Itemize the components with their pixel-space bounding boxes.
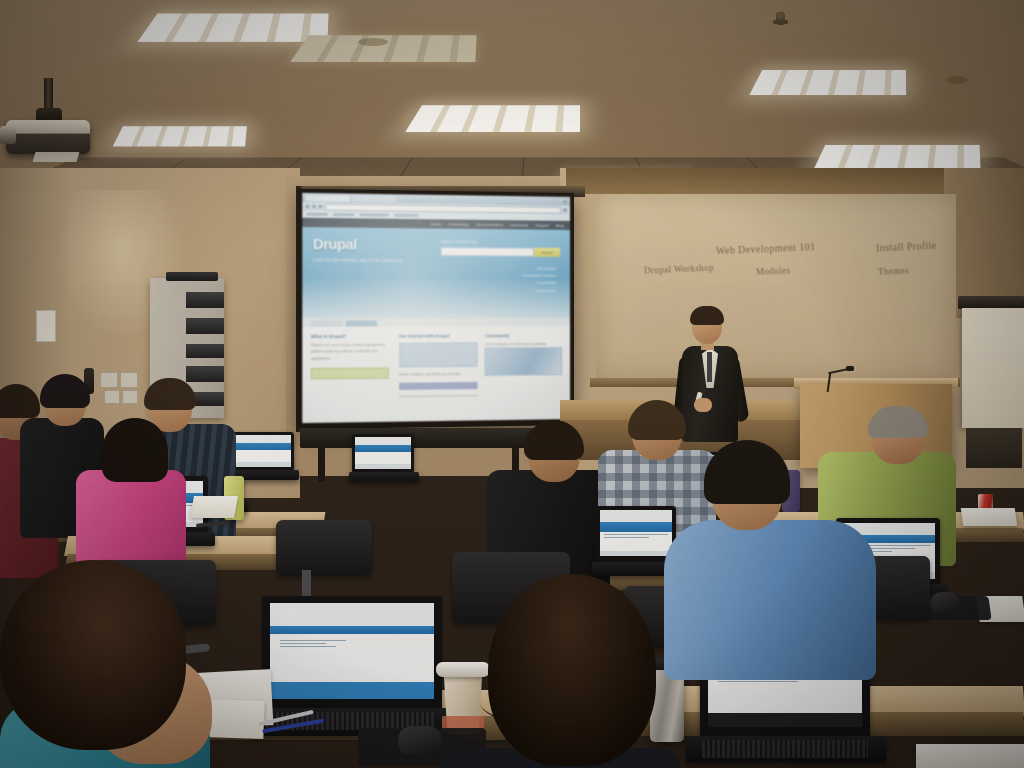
ceiling-projector xyxy=(6,120,90,154)
divider xyxy=(399,396,478,398)
column-heading: Get Started with Drupal xyxy=(399,333,478,338)
av-wall-plate xyxy=(104,390,120,404)
promo-image xyxy=(485,348,562,377)
wall-notice-sign xyxy=(36,310,56,342)
paper-handout[interactable] xyxy=(203,699,264,739)
projection-screen: Home Community Documentation Download Su… xyxy=(298,189,574,430)
column-heading: What is Drupal? xyxy=(311,334,392,339)
computer-mouse[interactable] xyxy=(398,726,442,754)
hero-link-list: Get Started Download & Extend Community … xyxy=(523,266,556,295)
av-rack-bay xyxy=(186,292,224,308)
bookmark-item[interactable] xyxy=(307,213,328,216)
content-column-what-is-drupal: What is Drupal? Drupal is an open source… xyxy=(311,334,392,423)
paper-handout[interactable] xyxy=(916,744,1024,768)
attendee-torso xyxy=(664,520,876,680)
fluorescent-light-panel xyxy=(113,126,247,146)
site-tagline: Come for the software, stay for the comm… xyxy=(313,257,439,265)
browser-tab[interactable] xyxy=(352,195,396,202)
laptop-screen xyxy=(235,435,291,467)
site-hero: Drupal Come for the software, stay for t… xyxy=(302,227,570,318)
laptop-screen xyxy=(270,603,434,699)
av-wall-plate xyxy=(100,372,118,388)
promo-band xyxy=(399,382,478,390)
search-label: Search Drupal.org xyxy=(441,239,560,245)
instructor-hands xyxy=(694,398,712,412)
fluorescent-light-panel xyxy=(405,105,580,132)
av-rack-bay xyxy=(186,344,224,358)
attendee-hair xyxy=(102,418,168,482)
smoke-detector-icon xyxy=(358,38,388,46)
projector-ceiling-plate xyxy=(33,152,80,162)
classroom-photo: Web Development 101 Drupal Workshop Modu… xyxy=(0,0,1024,768)
nav-item-documentation[interactable]: Documentation xyxy=(476,222,503,226)
nav-item-download[interactable]: Download xyxy=(510,223,528,227)
forward-arrow-icon[interactable] xyxy=(312,204,316,208)
fire-sprinkler-icon xyxy=(776,12,785,25)
av-rack-top-unit xyxy=(166,272,218,281)
browser-tab[interactable] xyxy=(305,194,350,201)
av-wall-plate xyxy=(122,390,138,404)
computer-mouse[interactable] xyxy=(930,592,960,612)
coffee-cup-lid xyxy=(436,662,490,677)
attendee-hair xyxy=(0,560,186,750)
microphone-icon xyxy=(846,366,854,371)
site-content: What is Drupal? Drupal is an open source… xyxy=(302,326,570,423)
search-input[interactable] xyxy=(441,247,534,257)
eyeglasses-icon xyxy=(56,394,84,403)
column-body: Install, configure and build your first … xyxy=(399,371,478,378)
tab-get-started[interactable] xyxy=(346,320,378,326)
nav-item-community[interactable]: Community xyxy=(448,222,468,226)
attendee-hair xyxy=(488,574,656,766)
instructor-hair xyxy=(690,306,724,325)
hero-link[interactable]: Community xyxy=(523,280,556,287)
smoke-detector-icon xyxy=(946,76,968,84)
paper-handout[interactable] xyxy=(190,496,238,518)
hero-link[interactable]: Marketplace xyxy=(523,287,556,294)
column-body: Drupal is an open source content managem… xyxy=(311,342,392,362)
flip-chart-stand xyxy=(966,428,1022,468)
av-credenza xyxy=(300,428,540,448)
office-chair[interactable] xyxy=(276,520,372,576)
laptop-screen xyxy=(355,437,411,469)
whiteboard-note: Themes xyxy=(878,265,909,276)
star-icon[interactable] xyxy=(563,208,567,212)
nav-item-support[interactable]: Support xyxy=(535,223,549,227)
tab-overview[interactable] xyxy=(311,320,343,326)
reload-icon[interactable] xyxy=(318,204,322,208)
paper-handout[interactable] xyxy=(961,508,1018,526)
av-rack-bay xyxy=(186,318,224,334)
projected-browser-window: Home Community Documentation Download Su… xyxy=(302,193,570,423)
site-search: Search Drupal.org Search xyxy=(441,239,560,257)
nav-item-blog[interactable]: Blog xyxy=(556,223,564,227)
bookmark-item[interactable] xyxy=(359,213,388,216)
browser-close-icon[interactable] xyxy=(563,199,567,203)
fluorescent-light-panel xyxy=(138,14,329,42)
content-column-community: Community Join thousands of contributors… xyxy=(485,333,562,423)
av-wall-plate xyxy=(120,372,138,388)
instructor-tie xyxy=(707,352,712,382)
content-column-get-started: Get Started with Drupal Install, configu… xyxy=(399,333,478,423)
laptop-screen xyxy=(600,510,672,556)
credenza-leg xyxy=(318,448,325,482)
search-button[interactable]: Search xyxy=(534,248,560,257)
whiteboard-note: Modules xyxy=(756,265,791,276)
av-rack-bay xyxy=(186,366,224,382)
whiteboard xyxy=(596,194,956,380)
fluorescent-light-panel xyxy=(749,70,906,95)
bookmark-item[interactable] xyxy=(394,214,419,217)
hero-link[interactable]: Download & Extend xyxy=(523,273,556,280)
promo-box xyxy=(399,342,478,367)
column-heading: Community xyxy=(485,333,562,338)
laptop-base xyxy=(349,472,419,482)
projector-lens-icon xyxy=(0,126,16,144)
download-drupal-button[interactable] xyxy=(311,368,389,380)
back-arrow-icon[interactable] xyxy=(305,204,309,208)
laptop-keyboard[interactable] xyxy=(702,740,868,758)
projector-mount-pole xyxy=(44,78,53,112)
bookmark-item[interactable] xyxy=(333,213,354,216)
fluorescent-light-panel xyxy=(814,145,980,168)
flip-chart-easel xyxy=(962,308,1024,428)
nav-item-home[interactable]: Home xyxy=(431,222,442,226)
